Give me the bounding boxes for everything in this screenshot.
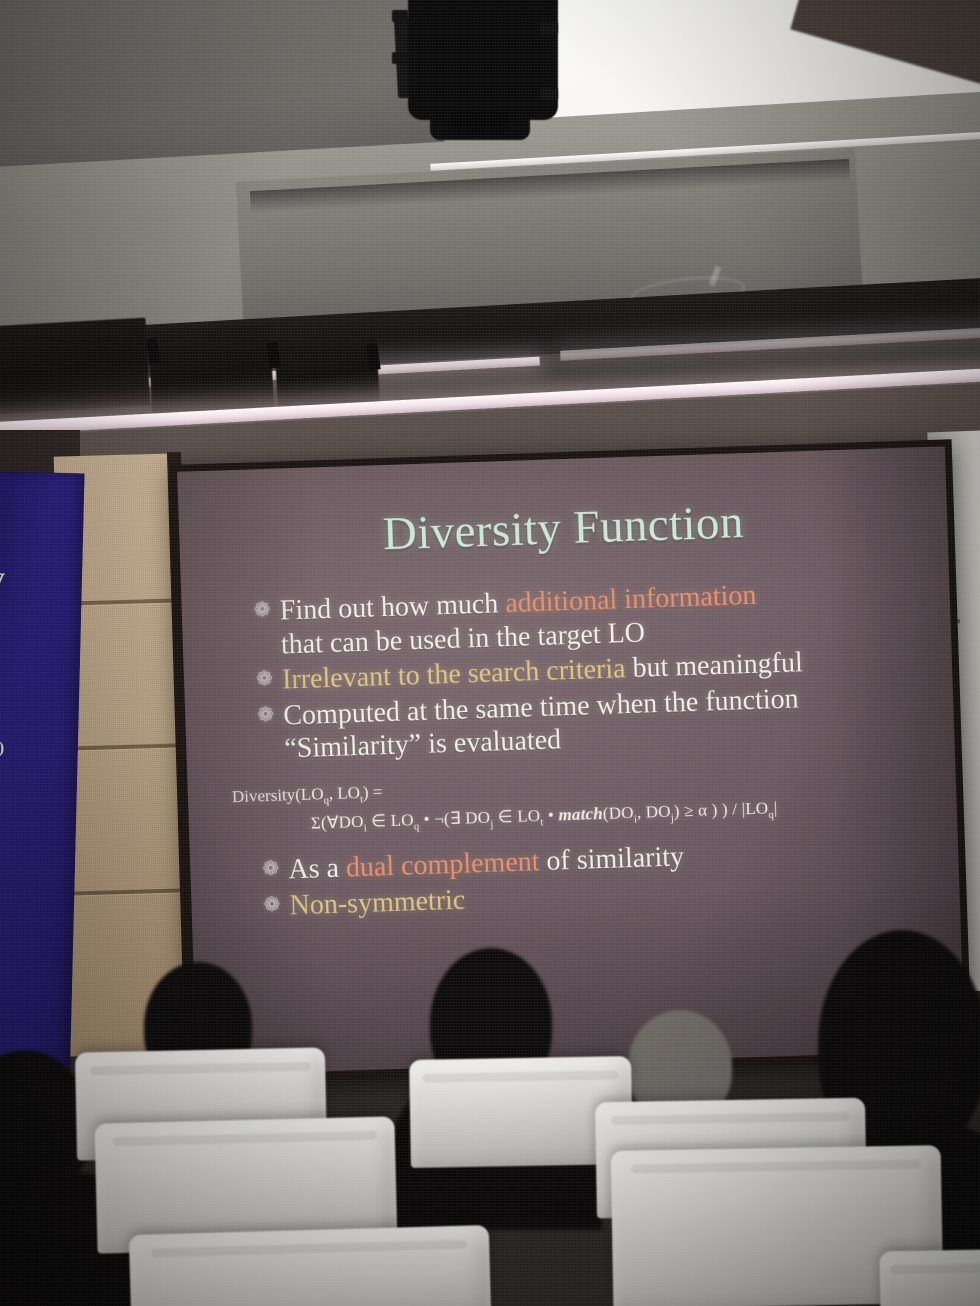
flower-bullet-icon: ❁ [262, 856, 289, 884]
auditorium-scene: y s) Diversity Function ❁ Find out how m… [0, 0, 980, 1306]
banner-text-fragment-bottom: s) [0, 738, 5, 758]
wall-speaker [0, 318, 150, 415]
projector-lug [392, 52, 408, 64]
bullet-segment-plain: As a [288, 853, 347, 886]
bullet-text: Computed at the same time when the funct… [283, 682, 800, 766]
flower-bullet-icon: ❁ [256, 666, 283, 694]
bullet-segment-plain: of similarity [539, 842, 685, 878]
projector-lug [540, 22, 558, 34]
bullet-text: Non-symmetric [289, 884, 466, 923]
banner-text-fragment-top: y [0, 560, 5, 598]
slide-title: Diversity Function [209, 489, 918, 566]
slide-bullet-list-lower: ❁ As a dual complement of similarity ❁ N… [220, 833, 930, 926]
flower-bullet-icon: ❁ [263, 891, 290, 919]
projector-lens-housing [452, 112, 508, 134]
bullet-segment-plain: Find out how much [279, 588, 505, 626]
bullet-segment-highlight: Non-symmetric [289, 885, 466, 922]
bullet-segment-highlight: additional information [505, 580, 757, 619]
chair-back [879, 1249, 980, 1306]
ceiling-projector [408, 0, 558, 120]
formula-line-1: Diversity(LOq, LOt) = [232, 782, 383, 806]
projector-lug [540, 88, 558, 100]
flower-bullet-icon: ❁ [253, 597, 280, 625]
bullet-segment-plain: but meaningful [625, 647, 803, 684]
flower-bullet-icon: ❁ [257, 701, 284, 729]
ceiling-surface-left [0, 0, 445, 168]
formula-line-2: Σ(∀DOi ∈ LOq • ¬(∃ DOj ∈ LOt • match(DOi… [310, 790, 927, 839]
wall-speaker [148, 324, 275, 416]
bullet-continuation: “Similarity” is evaluated [284, 725, 562, 765]
chair-back [129, 1225, 491, 1306]
diversity-formula: Diversity(LOq, LOt) = Σ(∀DOi ∈ LOq • ¬(∃… [232, 761, 928, 841]
bullet-segment-highlight: dual complement [345, 847, 540, 884]
projector-lug [392, 10, 408, 22]
slide-bullet-list-upper: ❁ Find out how much additional informati… [211, 573, 924, 768]
